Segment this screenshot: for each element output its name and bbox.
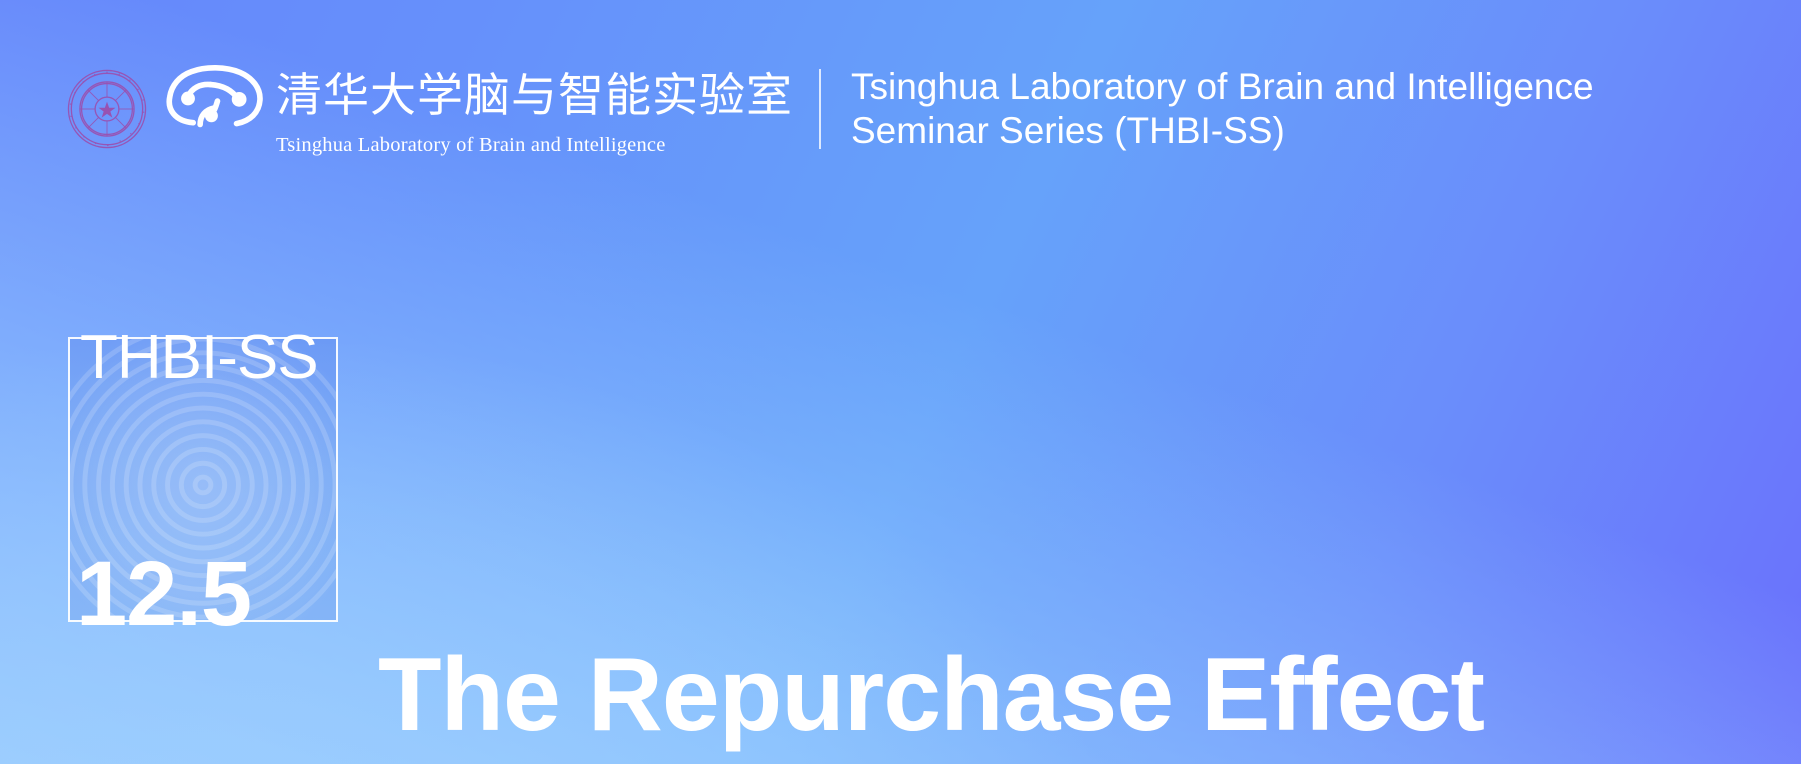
seminar-series-line-1: Tsinghua Laboratory of Brain and Intelli… [851,65,1594,109]
date-card: THBI-SS 12.5 [68,337,338,622]
seminar-series-title: Tsinghua Laboratory of Brain and Intelli… [851,65,1594,152]
talk-title-line-1: The Repurchase Effect [378,637,1558,755]
header-divider [819,69,821,149]
talk-title: The Repurchase Effect and Asset Prices [378,637,1558,764]
seminar-poster: 清华大学脑与智能实验室 Tsinghua Laboratory of Brain… [0,0,1801,764]
tsinghua-university-seal-icon [66,68,148,150]
lab-name-english: Tsinghua Laboratory of Brain and Intelli… [276,135,793,156]
brain-outline-icon [162,62,266,128]
lab-name-chinese: 清华大学脑与智能实验室 [276,72,793,118]
lab-branding: 清华大学脑与智能实验室 Tsinghua Laboratory of Brain… [162,62,793,156]
talk-title-line-2: and Asset Prices [378,754,1558,764]
seminar-series-line-2: Seminar Series (THBI-SS) [851,109,1594,153]
poster-header: 清华大学脑与智能实验室 Tsinghua Laboratory of Brain… [66,62,1801,156]
date-card-tag: THBI-SS [80,327,318,389]
date-card-date: 12.5 [76,548,251,640]
